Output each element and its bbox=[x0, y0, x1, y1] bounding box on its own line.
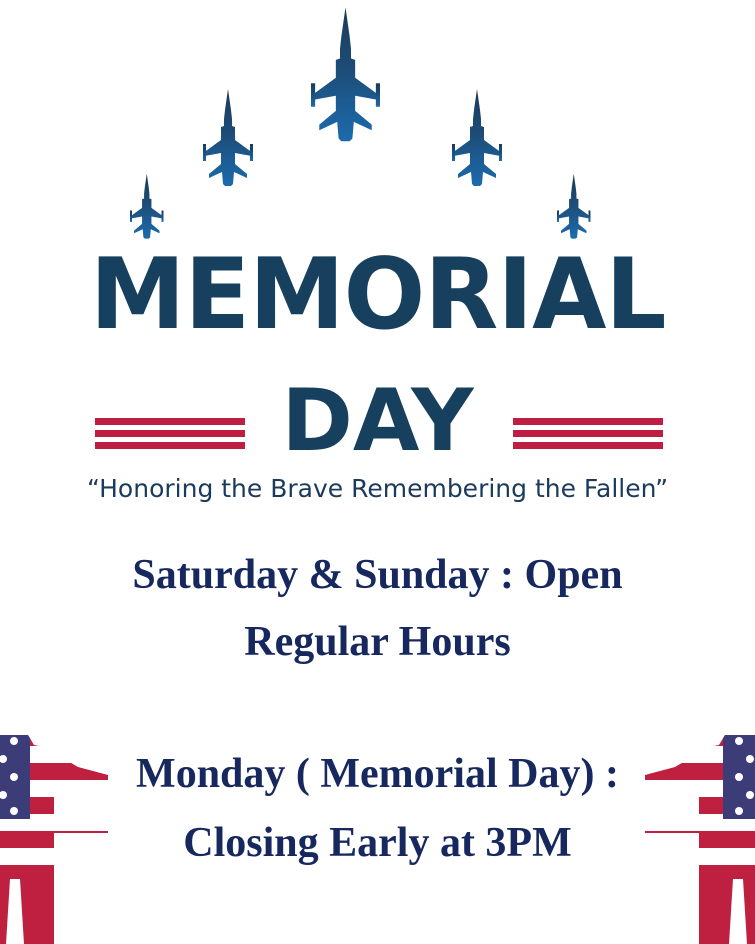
schedule-weekend-line-1: Saturday & Sunday : Open bbox=[0, 542, 755, 609]
memorial-word: MEMORIAL bbox=[90, 246, 666, 344]
stripe bbox=[513, 418, 663, 425]
fighter-jet-formation-icon bbox=[0, 0, 755, 250]
memorial-day-poster: MEMORIAL DAY “Honoring the Brave Remembe… bbox=[0, 0, 755, 944]
tagline: “Honoring the Brave Remembering the Fall… bbox=[0, 474, 755, 504]
saluting-soldier-flag-icon bbox=[0, 729, 133, 944]
page-title-line-2: DAY bbox=[0, 378, 755, 468]
page-title-line-1: MEMORIAL bbox=[0, 246, 755, 344]
saluting-soldier-flag-icon-mirrored bbox=[620, 729, 755, 944]
stripe bbox=[513, 430, 663, 437]
stripe bbox=[513, 442, 663, 449]
schedule-weekend-line-2: Regular Hours bbox=[0, 609, 755, 676]
flag-stripes-right bbox=[513, 418, 663, 449]
schedule-weekend: Saturday & Sunday : Open Regular Hours bbox=[0, 542, 755, 676]
